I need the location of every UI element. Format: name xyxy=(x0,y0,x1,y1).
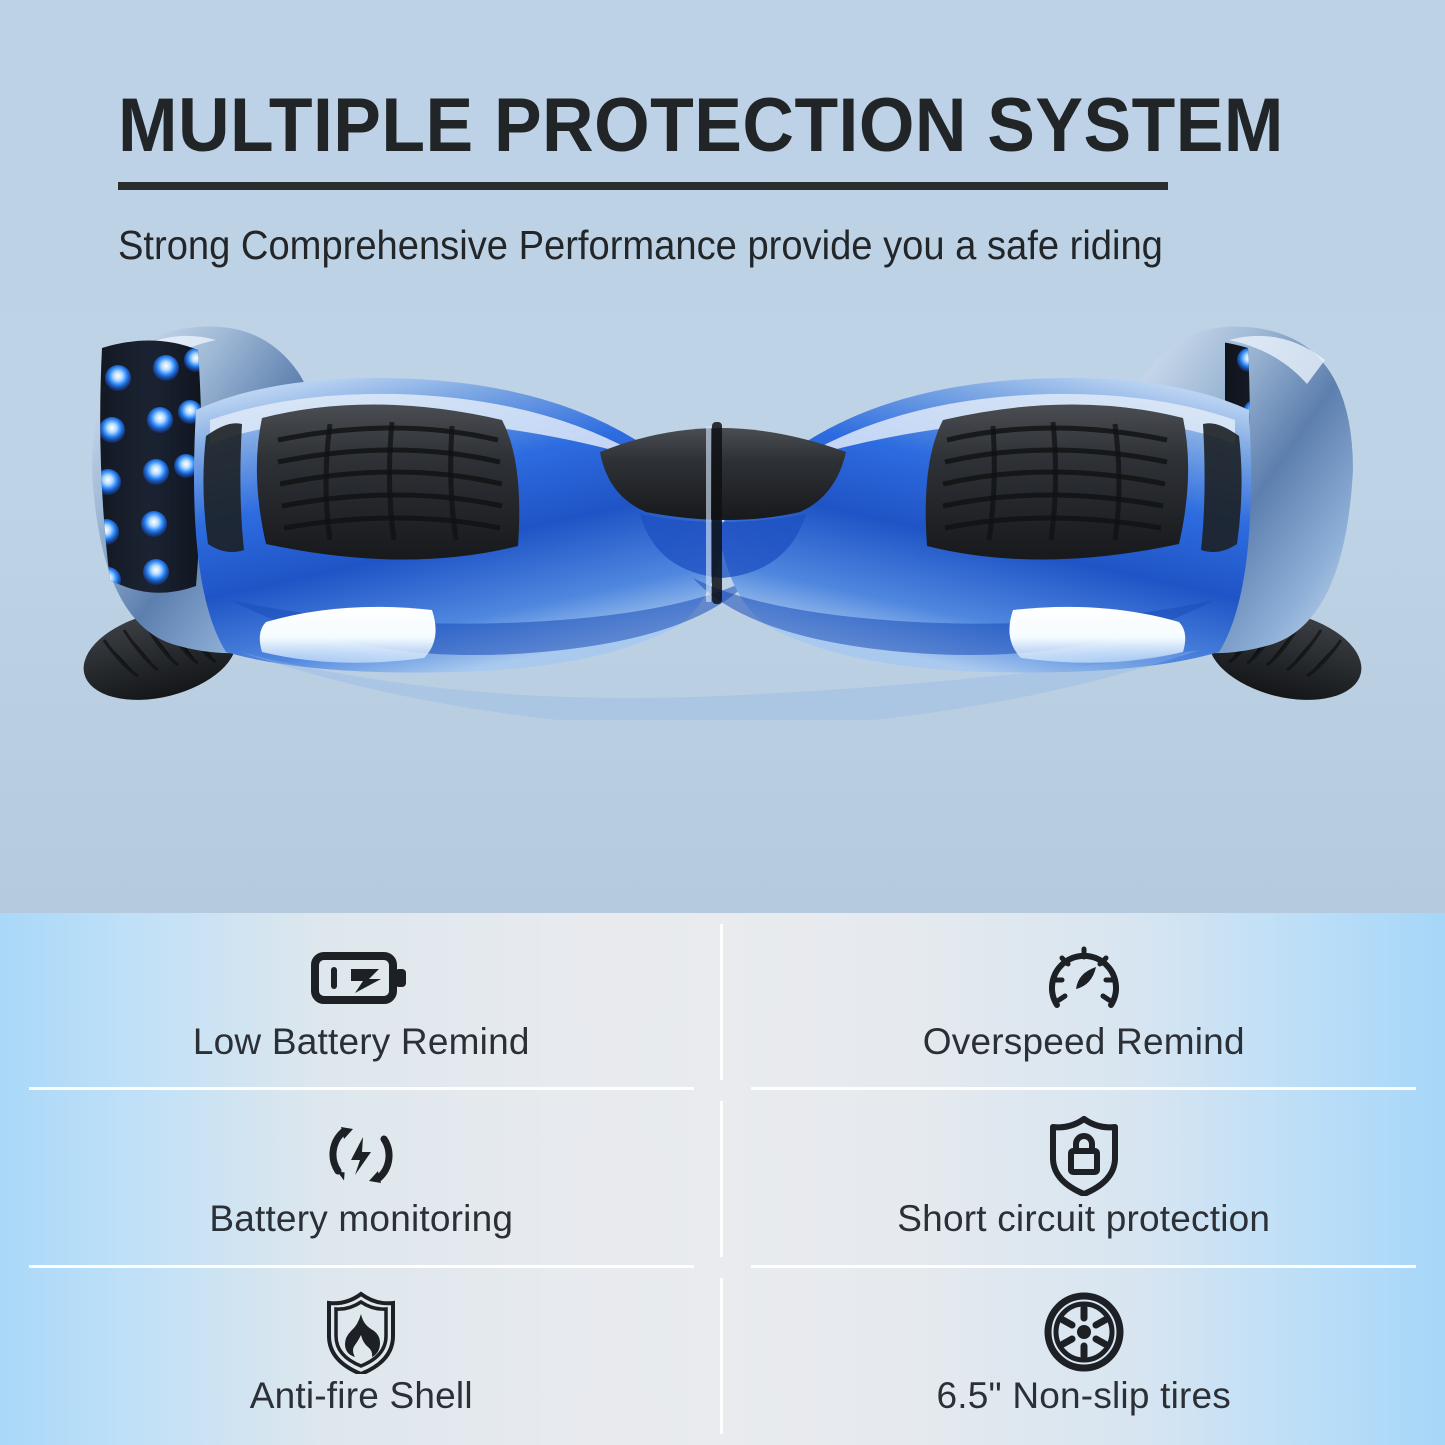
feature-cell-short-circuit-protection: Short circuit protection xyxy=(723,1090,1445,1267)
hero-subtitle: Strong Comprehensive Performance provide… xyxy=(118,222,1163,269)
hero-panel: MULTIPLE PROTECTION SYSTEM Strong Compre… xyxy=(0,0,1445,913)
feature-cell-overspeed-remind: Overspeed Remind xyxy=(723,913,1445,1090)
title-divider-rule xyxy=(118,182,1168,190)
feature-cell-non-slip-tires: 6.5" Non-slip tires xyxy=(723,1268,1445,1445)
shield-flame-icon xyxy=(324,1295,398,1369)
feature-label: Battery monitoring xyxy=(209,1198,513,1240)
feature-cell-battery-monitoring: Battery monitoring xyxy=(0,1090,723,1267)
feature-label: Anti-fire Shell xyxy=(250,1375,473,1417)
feature-label: 6.5" Non-slip tires xyxy=(936,1375,1231,1417)
feature-cell-anti-fire-shell: Anti-fire Shell xyxy=(0,1268,723,1445)
feature-label: Overspeed Remind xyxy=(923,1021,1245,1063)
feature-label: Low Battery Remind xyxy=(193,1021,530,1063)
side-vent-right xyxy=(1201,423,1242,552)
page-title: MULTIPLE PROTECTION SYSTEM xyxy=(118,88,1284,164)
battery-charging-icon xyxy=(311,941,411,1015)
speedometer-icon xyxy=(1045,941,1123,1015)
feature-grid: Low Battery Remind Overspeed Remind xyxy=(0,913,1445,1445)
foot-pad-right xyxy=(926,404,1188,559)
side-vent-left xyxy=(203,423,244,552)
foot-pad-left xyxy=(257,404,519,559)
product-feature-infographic: MULTIPLE PROTECTION SYSTEM Strong Compre… xyxy=(0,0,1445,1445)
battery-monitor-icon xyxy=(321,1118,401,1192)
wheel-icon xyxy=(1044,1295,1124,1369)
hoverboard-product-image xyxy=(0,300,1445,720)
feature-cell-low-battery-remind: Low Battery Remind xyxy=(0,913,723,1090)
shield-lock-icon xyxy=(1047,1118,1121,1192)
feature-label: Short circuit protection xyxy=(897,1198,1270,1240)
